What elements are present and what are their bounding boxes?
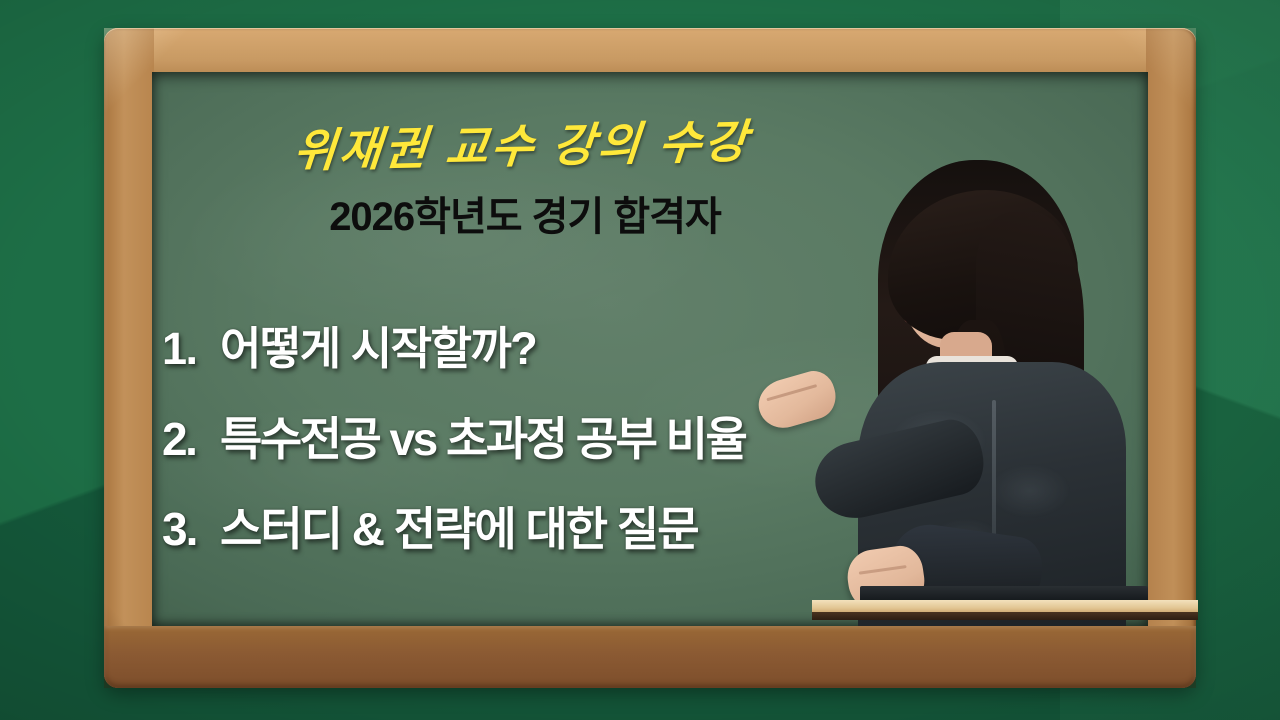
frame-rail-left [104,28,154,688]
agenda-item-1-number: 1. [162,323,220,375]
board-title: 위재권 교수 강의 수강 [259,105,786,182]
agenda-item-2-text: 특수전공 vs 초과정 공부 비율 [220,403,745,469]
agenda-item-3-number: 3. [162,502,220,556]
lecture-slide: 위재권 교수 강의 수강 2026학년도 경기 합격자 1. 어떻게 시작할까?… [0,0,1280,720]
agenda-item-1-text: 어떻게 시작할까? [220,312,536,377]
presenter-figure [800,150,1160,630]
board-subtitle: 2026학년도 경기 합격자 [230,184,820,242]
agenda-item-3-text: 스터디 & 전략에 대한 질문 [220,493,698,559]
agenda-item-2-number: 2. [162,412,220,466]
frame-bottom-ledge [104,626,1196,688]
frame-rail-top [104,28,1196,74]
